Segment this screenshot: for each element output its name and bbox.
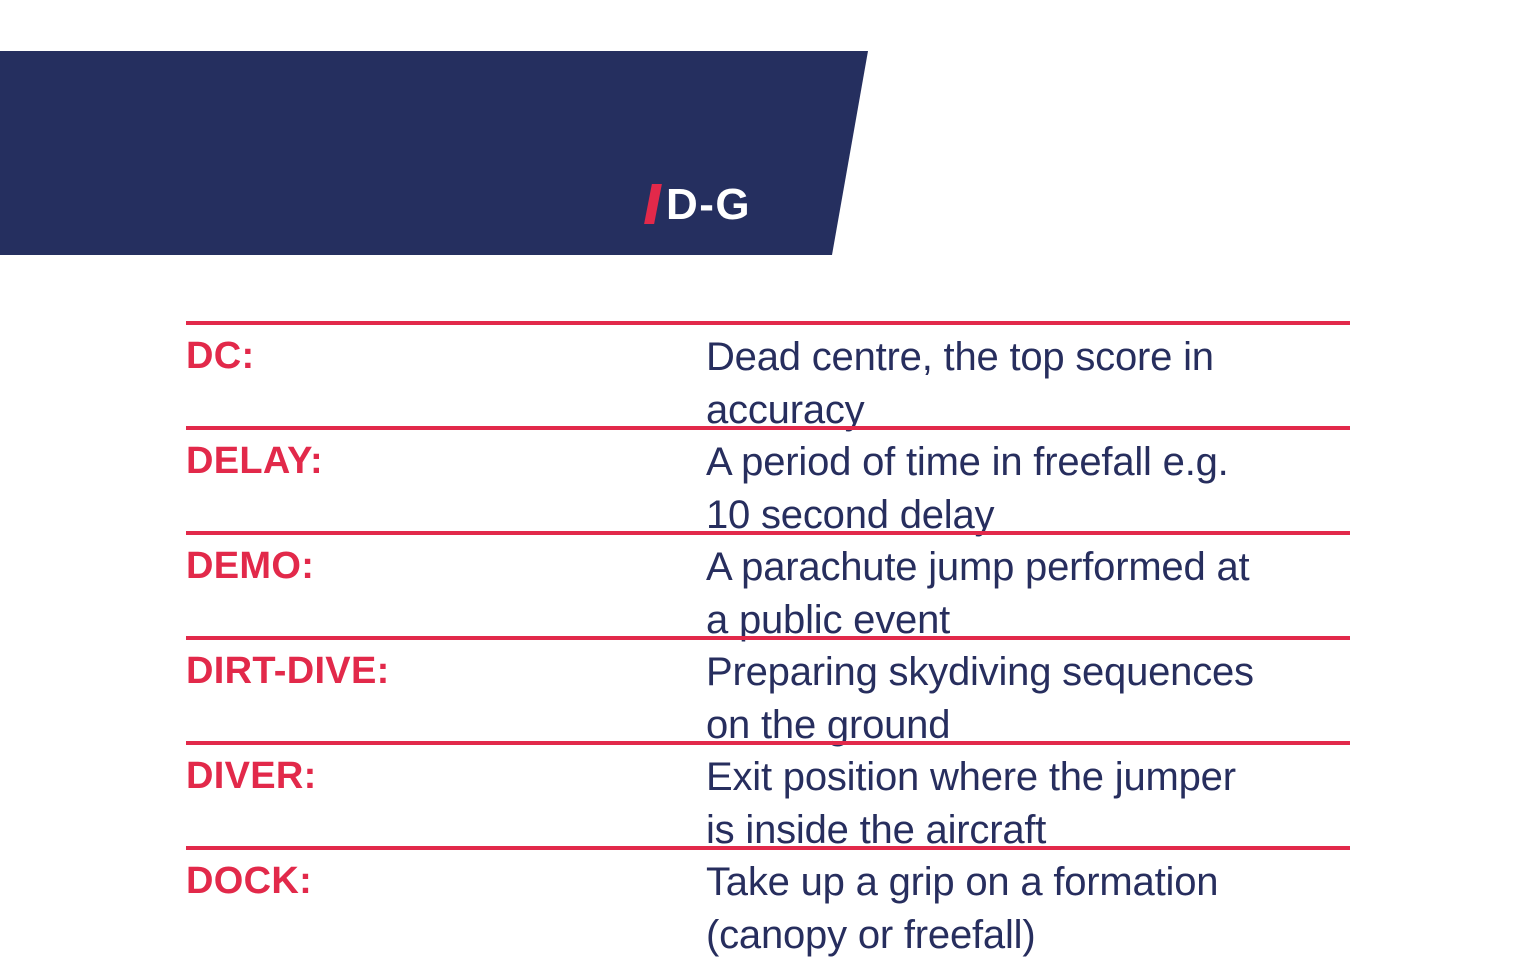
page-header-banner: D-G	[0, 51, 880, 255]
glossary-term: DEMO:	[186, 544, 314, 588]
glossary-term: DOCK:	[186, 859, 312, 903]
definition-line: Dead centre, the top score in	[706, 331, 1366, 384]
glossary-definition: A parachute jump performed at a public e…	[706, 541, 1366, 647]
glossary-definition: Take up a grip on a formation (canopy or…	[706, 856, 1366, 962]
glossary-row: DEMO: A parachute jump performed at a pu…	[186, 531, 1350, 636]
glossary-definition: Exit position where the jumper is inside…	[706, 751, 1366, 857]
definition-line: (canopy or freefall)	[706, 909, 1366, 962]
glossary-table: DC: Dead centre, the top score in accura…	[186, 321, 1350, 951]
glossary-definition: Preparing skydiving sequences on the gro…	[706, 646, 1366, 752]
definition-line: A parachute jump performed at	[706, 541, 1366, 594]
glossary-row: DIVER: Exit position where the jumper is…	[186, 741, 1350, 846]
definition-line: Preparing skydiving sequences	[706, 646, 1366, 699]
glossary-definition: A period of time in freefall e.g. 10 sec…	[706, 436, 1366, 542]
page-title: D-G	[666, 182, 751, 228]
glossary-term: DIVER:	[186, 754, 317, 798]
banner-title-group: D-G	[648, 179, 751, 228]
definition-line: Take up a grip on a formation	[706, 856, 1366, 909]
definition-line: Exit position where the jumper	[706, 751, 1366, 804]
glossary-term: DIRT-DIVE:	[186, 649, 390, 693]
glossary-term: DC:	[186, 334, 254, 378]
glossary-row: DELAY: A period of time in freefall e.g.…	[186, 426, 1350, 531]
glossary-row: DIRT-DIVE: Preparing skydiving sequences…	[186, 636, 1350, 741]
glossary-row: DC: Dead centre, the top score in accura…	[186, 321, 1350, 426]
glossary-definition: Dead centre, the top score in accuracy	[706, 331, 1366, 437]
glossary-row: DOCK: Take up a grip on a formation (can…	[186, 846, 1350, 951]
definition-line: A period of time in freefall e.g.	[706, 436, 1366, 489]
glossary-term: DELAY:	[186, 439, 323, 483]
